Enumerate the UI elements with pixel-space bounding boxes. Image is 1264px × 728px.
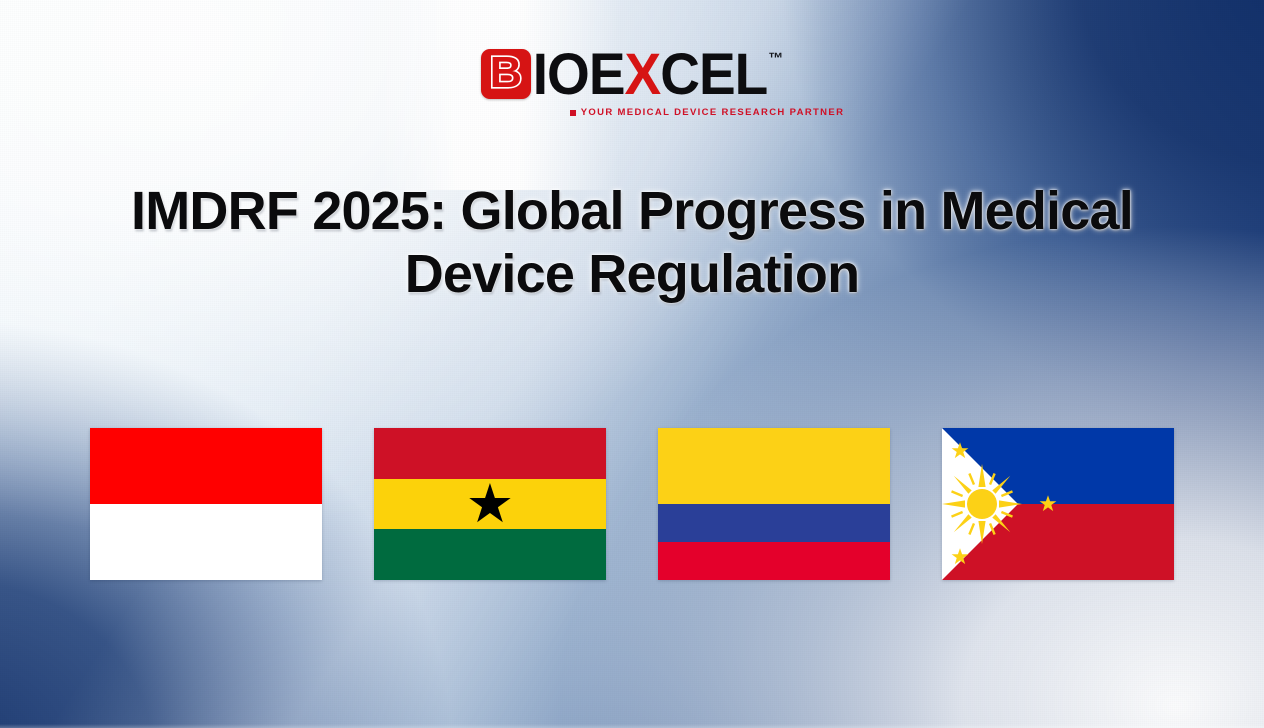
ghana-black-star-icon: ★ bbox=[466, 477, 514, 531]
brand-logo-ioe: IOE bbox=[533, 41, 625, 107]
brand-logo-trademark: ™ bbox=[768, 50, 783, 67]
indonesia-white-band bbox=[90, 504, 322, 580]
ghana-red-band bbox=[374, 428, 606, 479]
philippines-sun-and-stars-icon bbox=[942, 428, 1174, 580]
country-flags-row: ★ bbox=[0, 428, 1264, 580]
colombia-red-band bbox=[658, 542, 890, 580]
flag-philippines-icon bbox=[942, 428, 1174, 580]
brand-logo-cel: CEL bbox=[660, 41, 767, 107]
tagline-text: YOUR MEDICAL DEVICE RESEARCH PARTNER bbox=[581, 107, 845, 118]
brand-logo-b-letter: B bbox=[490, 51, 522, 95]
page-title-line-1: IMDRF 2025: Global Progress in Medical bbox=[36, 180, 1228, 243]
flag-colombia-icon bbox=[658, 428, 890, 580]
brand-logo-x: X bbox=[625, 41, 661, 107]
flag-indonesia-icon bbox=[90, 428, 322, 580]
brand-logo-b-badge-icon: B bbox=[481, 49, 531, 99]
colombia-blue-band bbox=[658, 504, 890, 542]
brand-logo-text: IOEXCEL bbox=[533, 45, 767, 103]
flag-ghana-icon: ★ bbox=[374, 428, 606, 580]
indonesia-red-band bbox=[90, 428, 322, 504]
brand-logo: B IOEXCEL ™ YOUR MEDICAL DEVICE RESEARCH… bbox=[0, 48, 1264, 118]
colombia-yellow-band bbox=[658, 428, 890, 504]
page-title: IMDRF 2025: Global Progress in Medical D… bbox=[0, 180, 1264, 305]
brand-tagline: YOUR MEDICAL DEVICE RESEARCH PARTNER bbox=[570, 107, 845, 118]
tagline-square-bullet-icon bbox=[570, 110, 576, 116]
page-title-line-2: Device Regulation bbox=[36, 243, 1228, 306]
brand-logo-wordmark: B IOEXCEL ™ bbox=[481, 48, 783, 100]
poster-canvas: B IOEXCEL ™ YOUR MEDICAL DEVICE RESEARCH… bbox=[0, 0, 1264, 728]
bottom-edge-fade bbox=[0, 724, 1264, 728]
ghana-green-band bbox=[374, 529, 606, 580]
